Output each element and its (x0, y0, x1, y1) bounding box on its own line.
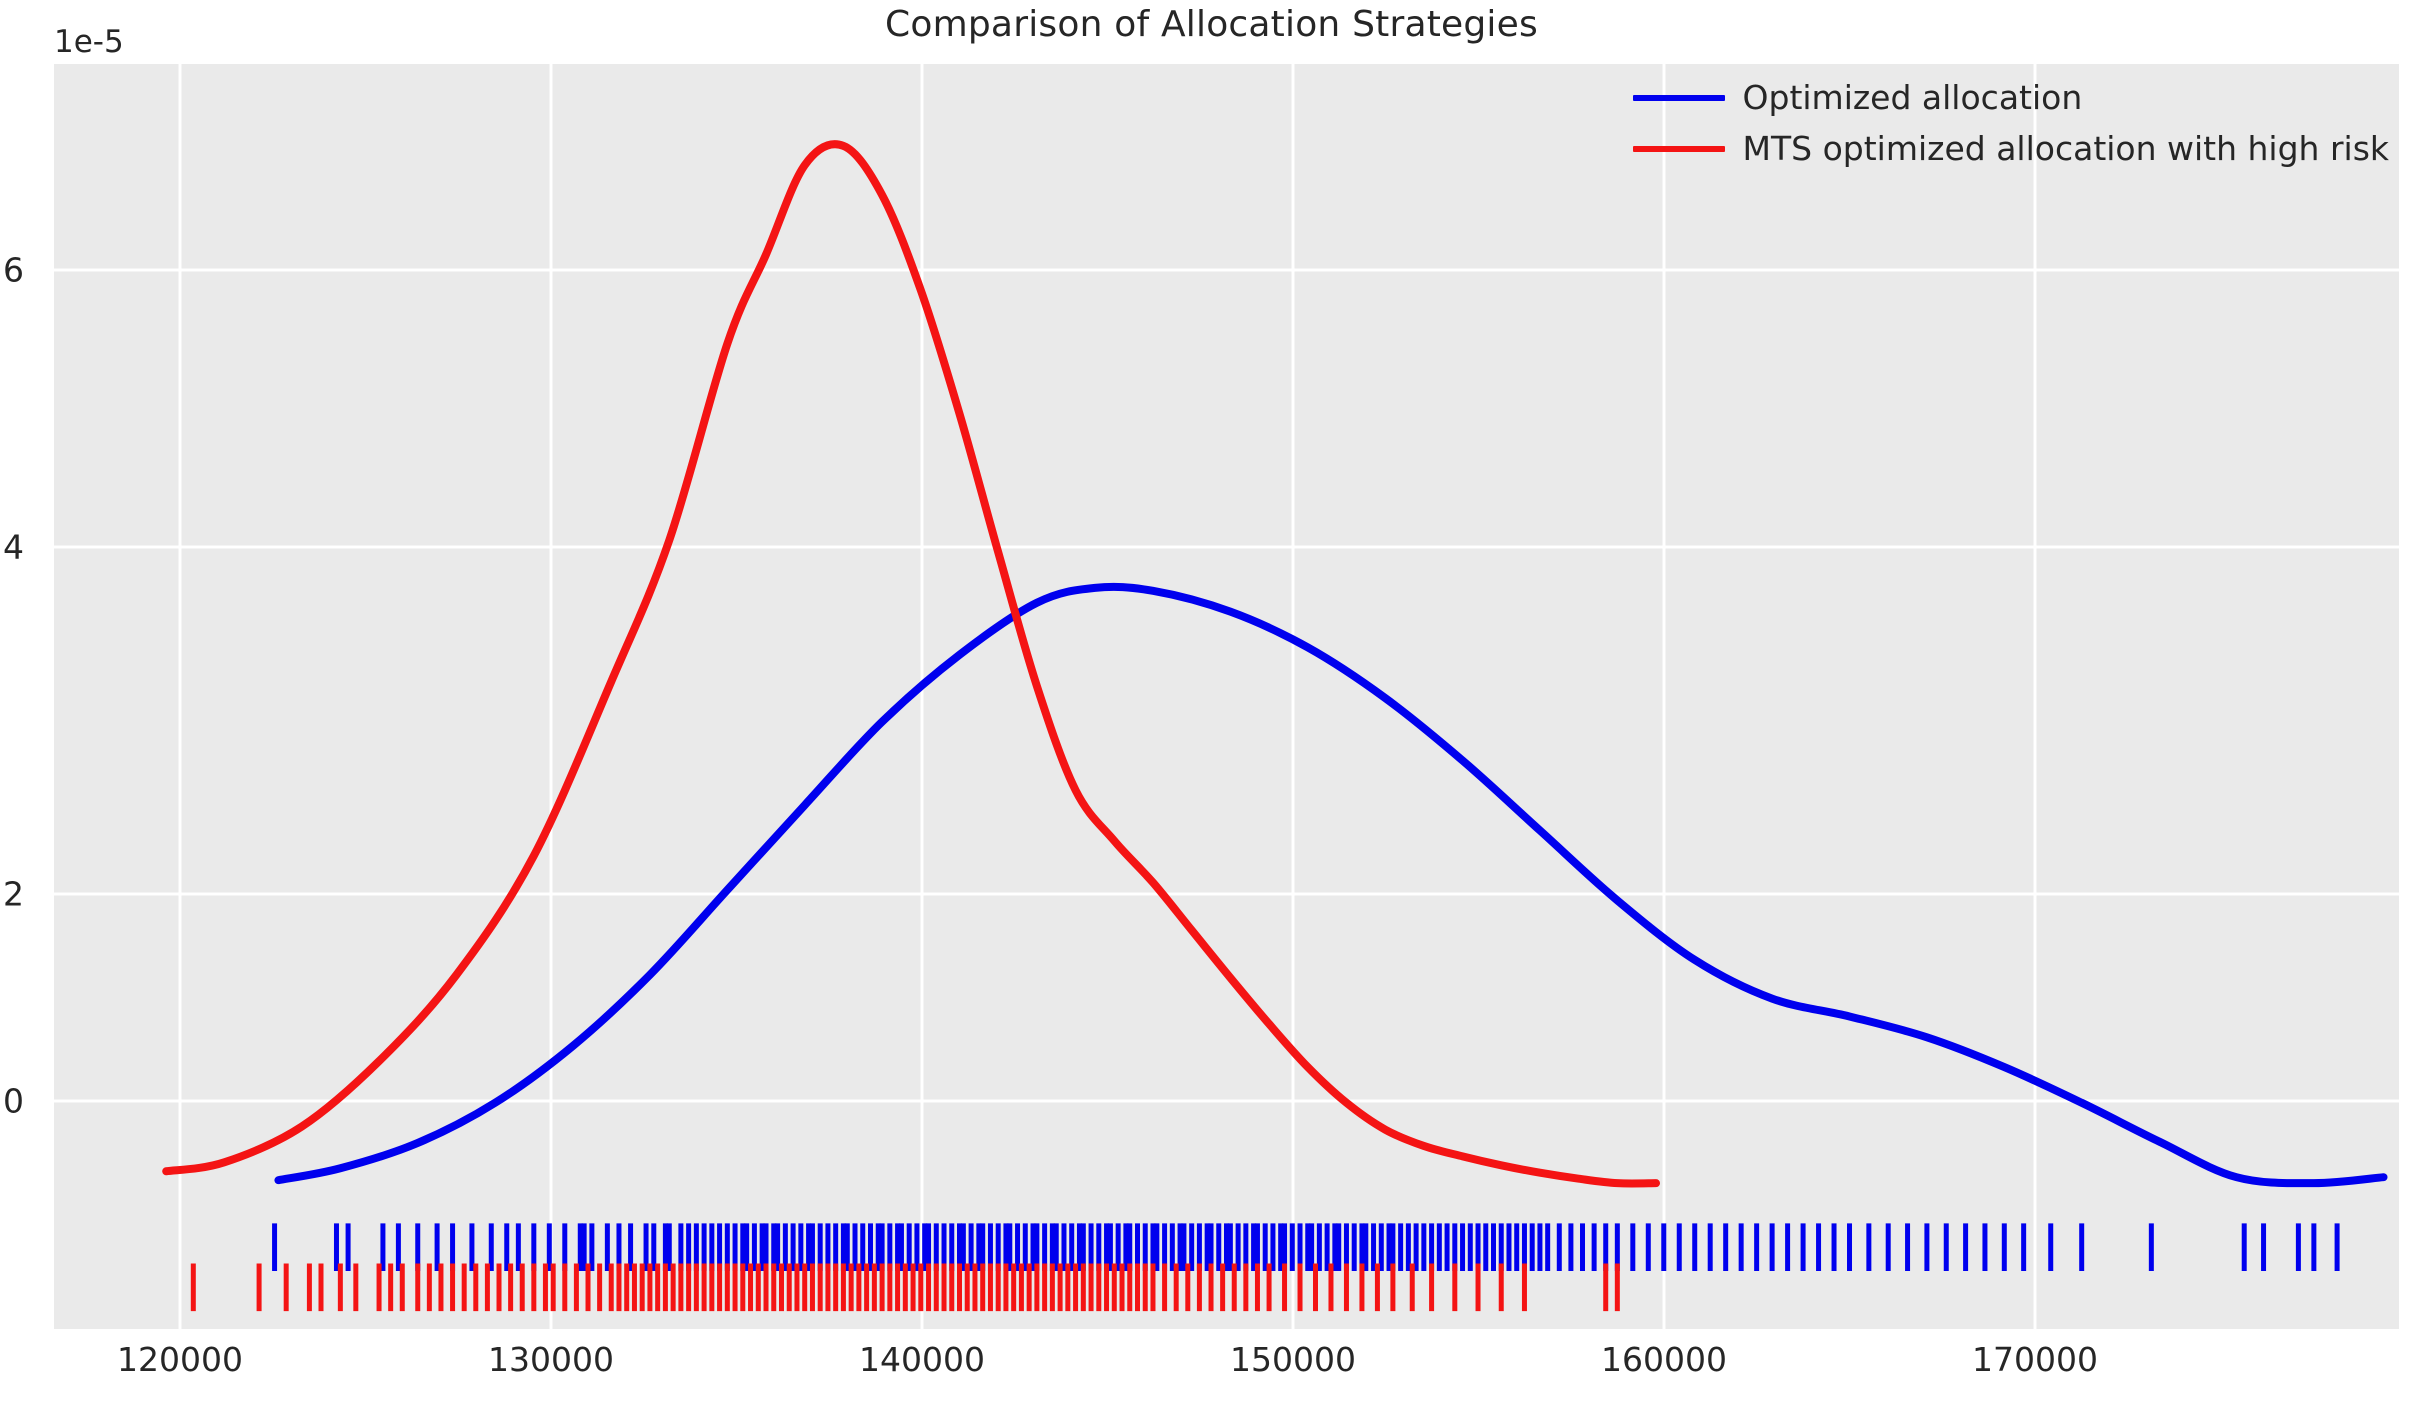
legend-entry-mts-optimized-allocation[interactable]: MTS optimized allocation with high risk (1633, 129, 2389, 168)
y-tick-label-6: 6 (0, 251, 24, 290)
rug-optimized-allocation (275, 1223, 2338, 1271)
y-axis-offset-label: 1e-5 (54, 24, 124, 60)
legend-label-optimized-allocation: Optimized allocation (1743, 78, 2083, 117)
chart-legend: Optimized allocation MTS optimized alloc… (1633, 78, 2389, 168)
rug-mts-optimized-allocation (193, 1264, 1617, 1312)
y-tick-label-0: 0 (0, 1082, 24, 1121)
y-tick-label-4: 4 (0, 528, 24, 567)
chart-title: Comparison of Allocation Strategies (0, 4, 2423, 45)
chart-figure: Comparison of Allocation Strategies 1e-5 (0, 0, 2423, 1423)
x-tick-label-120000: 120000 (30, 1340, 330, 1379)
x-tick-label-160000: 160000 (1514, 1340, 1814, 1379)
legend-entry-optimized-allocation[interactable]: Optimized allocation (1633, 78, 2389, 117)
plot-area (54, 64, 2399, 1329)
x-tick-label-150000: 150000 (1143, 1340, 1443, 1379)
x-tick-label-140000: 140000 (772, 1340, 1072, 1379)
rug-plots (54, 64, 2399, 1329)
y-tick-label-2: 2 (0, 875, 24, 914)
legend-swatch-blue-line-icon (1633, 95, 1725, 101)
x-tick-label-130000: 130000 (401, 1340, 701, 1379)
legend-swatch-red-line-icon (1633, 146, 1725, 152)
x-tick-label-170000: 170000 (1885, 1340, 2185, 1379)
legend-label-mts-optimized-allocation: MTS optimized allocation with high risk (1743, 129, 2389, 168)
